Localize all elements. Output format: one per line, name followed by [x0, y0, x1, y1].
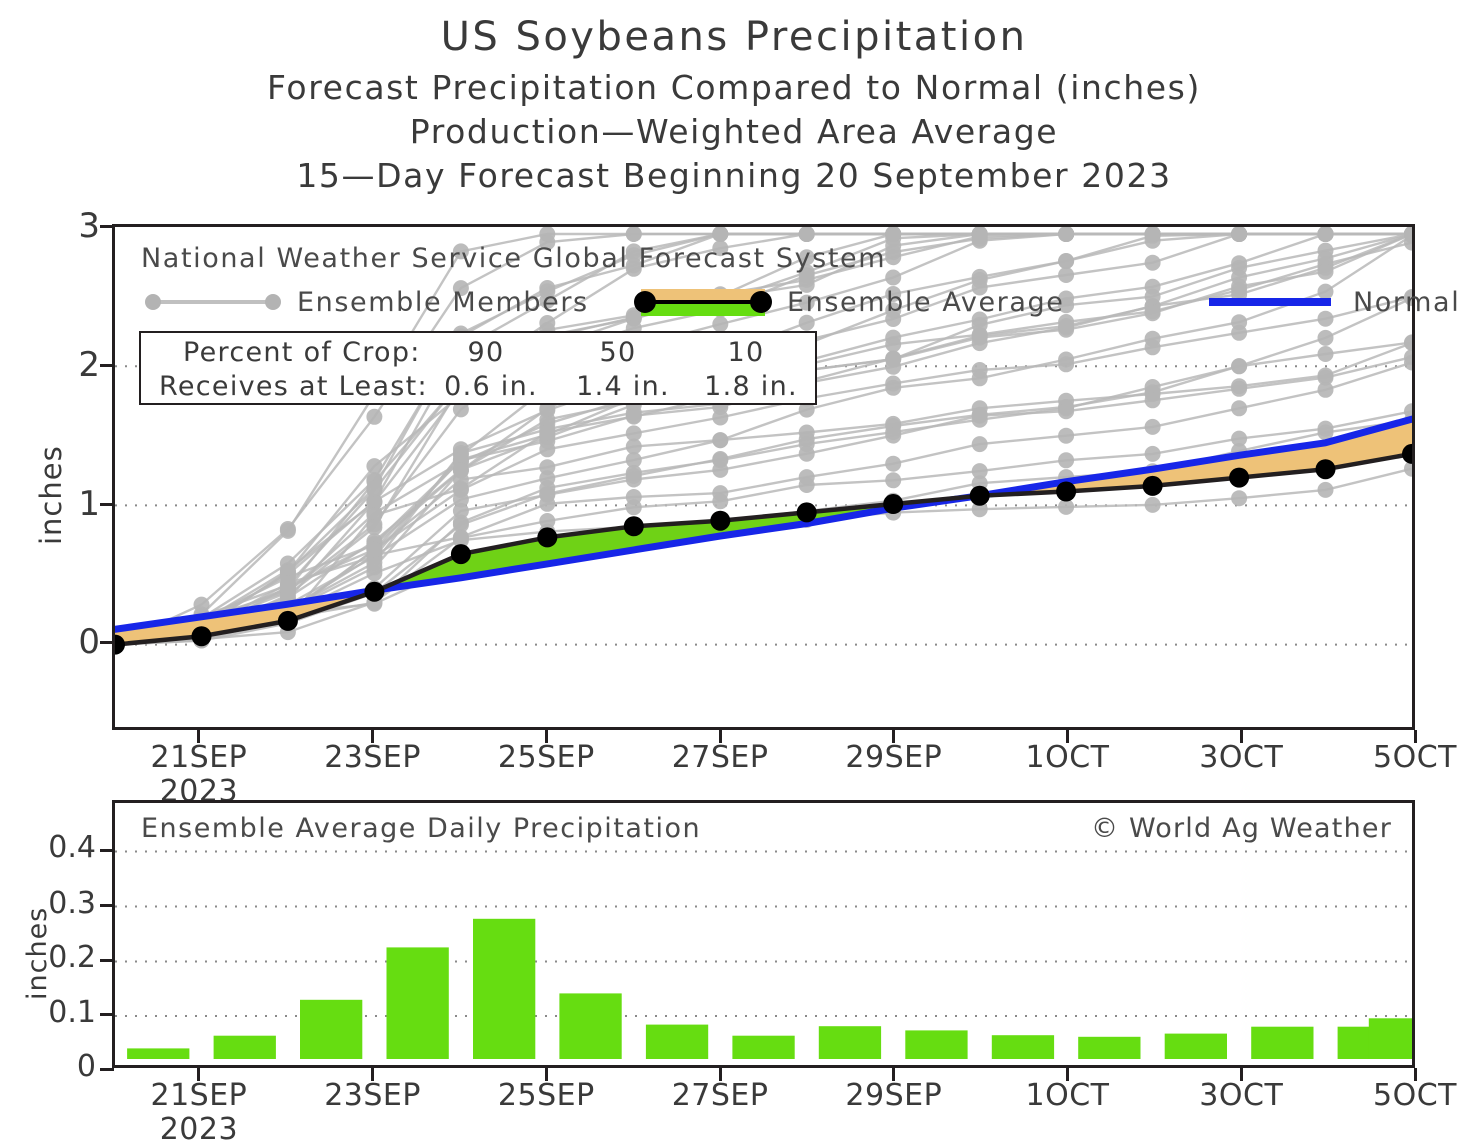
bar-1	[214, 1036, 276, 1059]
percent-value-90: 90	[468, 337, 505, 368]
xlabel-3OCT: 3OCT	[1199, 1078, 1283, 1113]
xlabel-21SEP: 21SEP	[151, 1078, 248, 1113]
subtitle-line-2: Production—Weighted Area Average	[0, 112, 1468, 151]
bottom-ytick-0.1: 0.1	[8, 995, 96, 1030]
top-ytick-0: 0	[40, 622, 100, 662]
xlabel-25SEP: 25SEP	[498, 740, 595, 775]
top-ytick-1: 1	[40, 484, 100, 524]
xlabel-29SEP: 29SEP	[845, 1078, 942, 1113]
subtitle-line-3: 15—Day Forecast Beginning 20 September 2…	[0, 156, 1468, 195]
percent-value-10: 10	[728, 337, 765, 368]
bottom-ytick-0: 0	[8, 1049, 96, 1084]
daily-precipitation-chart: Ensemble Average Daily Precipitation © W…	[112, 800, 1415, 1068]
percent-value-50: 50	[600, 337, 637, 368]
legend-ensemble-members-label: Ensemble Members	[297, 287, 589, 318]
bar-13	[1251, 1027, 1313, 1059]
normal-swatch	[1205, 289, 1335, 315]
xlabel-1OCT: 1OCT	[1026, 1078, 1110, 1113]
chart-titles: US Soybeans Precipitation Forecast Preci…	[0, 0, 1468, 195]
bar-8	[819, 1026, 881, 1059]
top-ytick-3: 3	[40, 206, 100, 246]
percent-of-crop-label: Percent of Crop:	[183, 337, 421, 368]
xlabel-5OCT: 5OCT	[1373, 1078, 1457, 1113]
ensemble-average-swatch	[633, 285, 773, 319]
bottom-ytickmark-0	[100, 1068, 114, 1071]
legend-ensemble-average-label: Ensemble Average	[787, 287, 1064, 318]
legend-normal-label: Normal	[1353, 287, 1460, 318]
xlabel-29SEP: 29SEP	[845, 740, 942, 775]
bar-last	[1369, 1018, 1412, 1059]
xlabel-5OCT: 5OCT	[1373, 740, 1457, 775]
amount-value-90: 0.6 in.	[444, 371, 538, 402]
forecast-accumulation-chart: National Weather Service Global Forecast…	[112, 224, 1415, 730]
legend-source-label: National Weather Service Global Forecast…	[141, 243, 886, 274]
bar-9	[905, 1030, 967, 1059]
xlabel-21SEP: 21SEP	[151, 740, 248, 775]
receives-at-least-label: Receives at Least:	[159, 371, 428, 402]
xlabel-25SEP: 25SEP	[498, 1078, 595, 1113]
bar-3	[387, 947, 449, 1059]
bar-12	[1165, 1034, 1227, 1059]
subtitle-line-1: Forecast Precipitation Compared to Norma…	[0, 68, 1468, 107]
bottom-panel-title: Ensemble Average Daily Precipitation	[141, 813, 701, 844]
xlabel-27SEP: 27SEP	[672, 1078, 769, 1113]
bottom-ytick-0.4: 0.4	[8, 830, 96, 865]
xlabel-1OCT: 1OCT	[1026, 740, 1110, 775]
xlabel-23SEP: 23SEP	[324, 740, 421, 775]
top-ytick-2: 2	[40, 345, 100, 385]
bar-0	[127, 1048, 189, 1059]
bar-7	[732, 1036, 794, 1059]
xlabel-23SEP: 23SEP	[324, 1078, 421, 1113]
bottom-ytick-0.3: 0.3	[8, 886, 96, 921]
bar-2	[300, 1000, 362, 1059]
bar-10	[992, 1035, 1054, 1059]
bar-6	[646, 1025, 708, 1059]
ensemble-members-swatch	[143, 289, 283, 315]
xlabel-3OCT: 3OCT	[1199, 740, 1283, 775]
percent-of-crop-box: Percent of Crop: Receives at Least: 90 5…	[139, 331, 817, 405]
xaxis-year: 2023	[160, 1112, 238, 1147]
amount-value-10: 1.8 in.	[704, 371, 798, 402]
bar-11	[1078, 1037, 1140, 1059]
bottom-ytick-0.2: 0.2	[8, 940, 96, 975]
bar-5	[559, 993, 621, 1059]
copyright-label: © World Ag Weather	[1091, 813, 1392, 844]
bar-4	[473, 919, 535, 1059]
page-title: US Soybeans Precipitation	[0, 14, 1468, 60]
xlabel-27SEP: 27SEP	[672, 740, 769, 775]
daily-precip-bars	[127, 919, 1412, 1059]
amount-value-50: 1.4 in.	[576, 371, 670, 402]
